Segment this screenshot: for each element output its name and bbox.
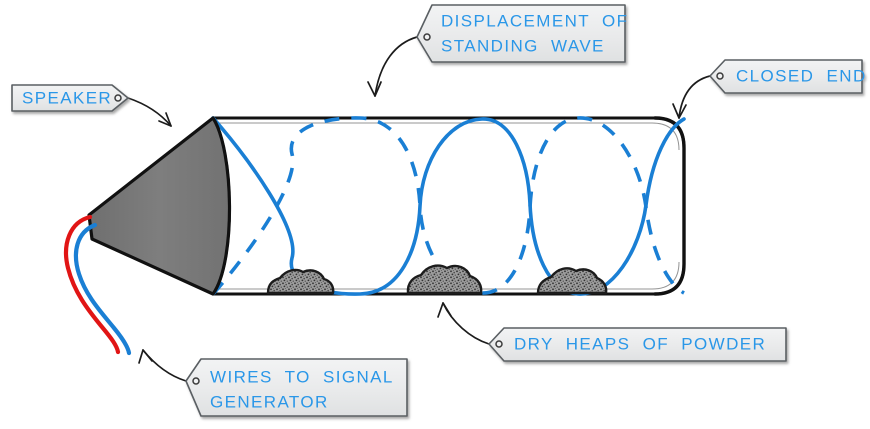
arrow-powder <box>443 303 489 344</box>
arrowhead-displacement <box>368 82 381 96</box>
label-displacement-line-1: DISPLACEMENT OF <box>441 11 628 30</box>
speaker-cone <box>89 118 230 294</box>
label-wires-line-1: WIRES TO SIGNAL <box>210 367 394 386</box>
label-powder-line-1: DRY HEAPS OF POWDER <box>514 334 766 353</box>
arrowhead-wires <box>139 350 152 363</box>
label-speaker-eyelet <box>115 95 121 101</box>
arrow-wires <box>143 350 186 381</box>
label-displacement-eyelet <box>424 34 430 40</box>
label-wires[interactable]: WIRES TO SIGNAL GENERATOR <box>186 359 407 416</box>
label-closed-end-line-1: CLOSED END <box>736 66 867 85</box>
diagram-canvas: SPEAKER DISPLACEMENT OF STANDING WAVE CL… <box>0 0 870 429</box>
arrow-displacement <box>375 37 417 96</box>
label-wires-line-2: GENERATOR <box>210 392 329 411</box>
label-speaker[interactable]: SPEAKER <box>12 85 128 111</box>
label-displacement-line-2: STANDING WAVE <box>441 36 605 55</box>
arrow-speaker <box>128 98 171 126</box>
label-speaker-line-1: SPEAKER <box>22 88 112 107</box>
speaker-cone-body <box>89 118 230 294</box>
arrow-closed-end <box>679 76 710 118</box>
label-powder[interactable]: DRY HEAPS OF POWDER <box>489 328 786 361</box>
label-powder-eyelet <box>496 341 502 347</box>
label-displacement[interactable]: DISPLACEMENT OF STANDING WAVE <box>417 5 628 62</box>
label-wires-eyelet <box>193 378 199 384</box>
label-closed-end[interactable]: CLOSED END <box>710 60 867 93</box>
label-closed-end-eyelet <box>717 73 723 79</box>
kundt-tube-diagram: SPEAKER DISPLACEMENT OF STANDING WAVE CL… <box>0 0 870 429</box>
